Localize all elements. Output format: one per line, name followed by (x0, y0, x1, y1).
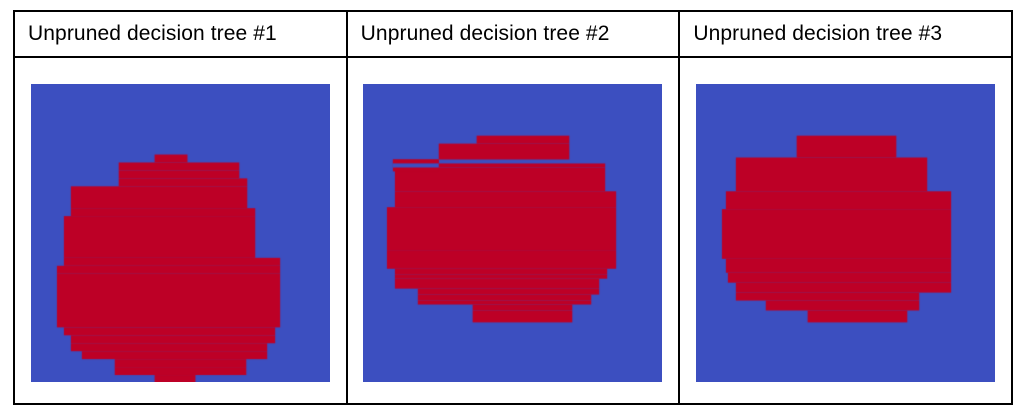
header-row: Unpruned decision tree #1 Unpruned decis… (14, 11, 1012, 57)
plot-cell-tree-3 (679, 57, 1012, 404)
decision-boundary-canvas-2 (363, 84, 662, 382)
header-cell-tree-1: Unpruned decision tree #1 (14, 11, 347, 57)
panel-title-tree-1: Unpruned decision tree #1 (15, 12, 346, 56)
panel-title-tree-3: Unpruned decision tree #3 (680, 12, 1011, 56)
decision-tree-comparison-table: Unpruned decision tree #1 Unpruned decis… (13, 10, 1013, 405)
plot-row (14, 57, 1012, 404)
decision-boundary-plot-3 (696, 84, 995, 382)
plot-cell-tree-1 (14, 57, 347, 404)
decision-boundary-canvas-1 (31, 84, 330, 382)
decision-boundary-plot-2 (363, 84, 662, 382)
header-cell-tree-3: Unpruned decision tree #3 (679, 11, 1012, 57)
header-cell-tree-2: Unpruned decision tree #2 (347, 11, 680, 57)
decision-boundary-plot-1 (31, 84, 330, 382)
decision-boundary-canvas-3 (696, 84, 995, 382)
plot-cell-tree-2 (347, 57, 680, 404)
panel-title-tree-2: Unpruned decision tree #2 (348, 12, 679, 56)
